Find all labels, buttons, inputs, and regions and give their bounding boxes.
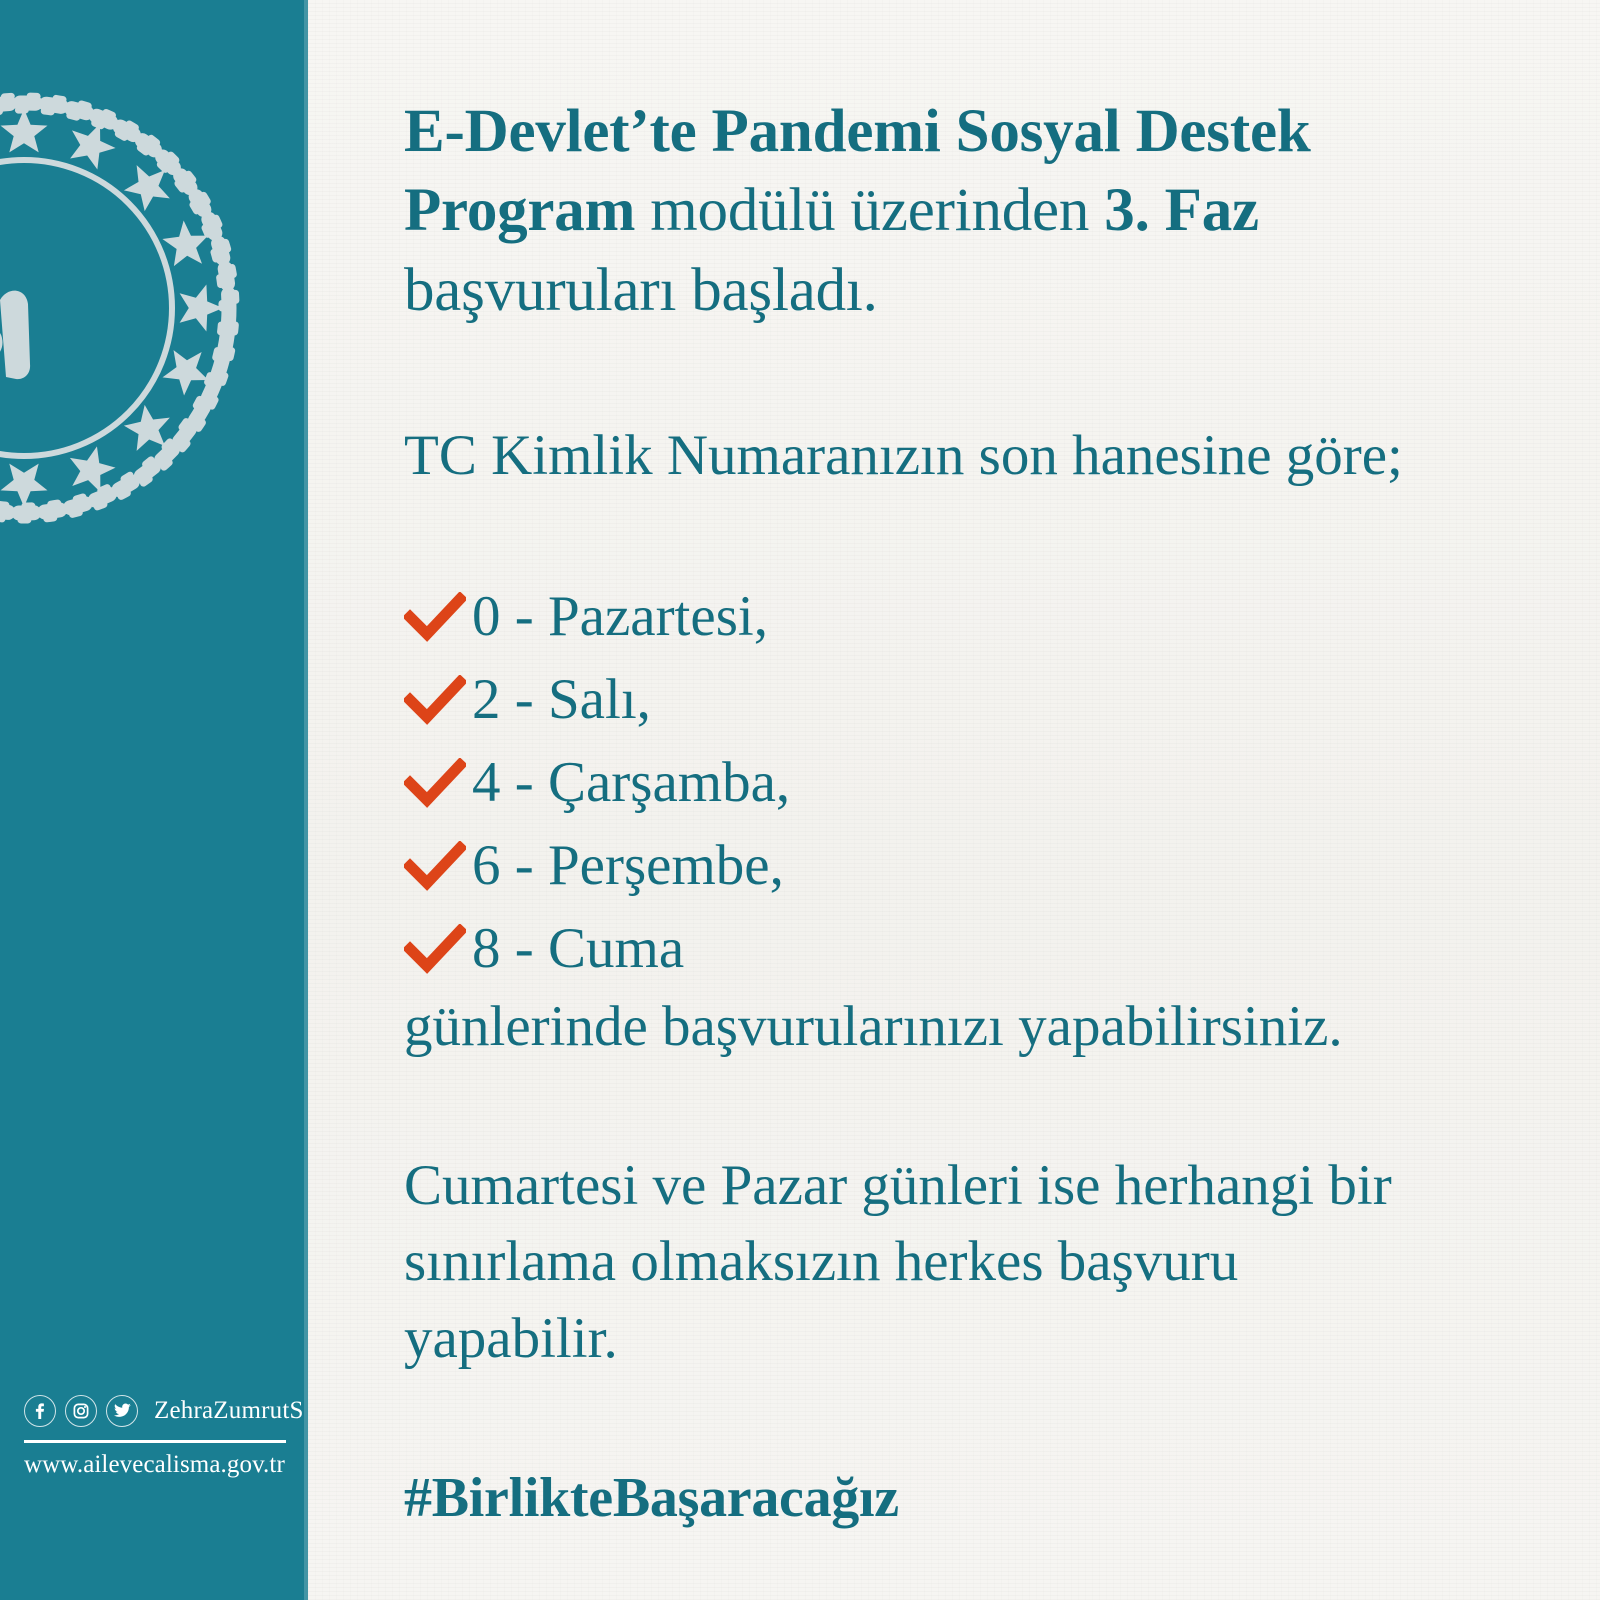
social-links-row: ZehraZumrutS bbox=[24, 1394, 292, 1428]
main-content: E-Devlet’te Pandemi Sosyal Destek Progra… bbox=[404, 0, 1524, 1600]
headline-part-3: 3. Faz bbox=[1104, 177, 1259, 244]
sidebar-footer: ZehraZumrutS www.ailevecalisma.gov.tr bbox=[24, 1394, 292, 1478]
headline-part-2: modülü üzerinden bbox=[635, 177, 1104, 244]
headline-part-4: başvuruları başladı. bbox=[404, 257, 878, 324]
check-icon bbox=[404, 592, 466, 642]
closing-line: günlerinde başvurularınızı yapabilirsini… bbox=[404, 990, 1504, 1064]
check-icon bbox=[404, 841, 466, 891]
day-label: 6 - Perşembe, bbox=[472, 837, 784, 894]
day-label: 4 - Çarşamba, bbox=[472, 754, 790, 811]
weekend-note: Cumartesi ve Pazar günleri ise herhangi … bbox=[404, 1148, 1464, 1377]
footer-divider bbox=[24, 1440, 286, 1443]
day-label: 2 - Salı, bbox=[472, 671, 651, 728]
list-item: 4 - Çarşamba, bbox=[404, 741, 1304, 824]
check-icon bbox=[404, 924, 466, 974]
website-url[interactable]: www.ailevecalisma.gov.tr bbox=[24, 1452, 292, 1478]
instagram-icon[interactable] bbox=[65, 1395, 97, 1427]
sidebar: ZehraZumrutS www.ailevecalisma.gov.tr bbox=[0, 0, 308, 1600]
social-handle: ZehraZumrutS bbox=[154, 1398, 304, 1423]
announcement-poster: ZehraZumrutS www.ailevecalisma.gov.tr E-… bbox=[0, 0, 1600, 1600]
turkish-ministry-family-labour-emblem-icon bbox=[0, 88, 244, 528]
list-item: 8 - Cuma bbox=[404, 907, 1304, 990]
campaign-hashtag: #BirlikteBaşaracağız bbox=[404, 1470, 899, 1526]
day-schedule-list: 0 - Pazartesi, 2 - Salı, 4 - Çarşamba, bbox=[404, 575, 1304, 990]
sidebar-edge-highlight bbox=[304, 0, 308, 1600]
day-label: 0 - Pazartesi, bbox=[472, 588, 768, 645]
day-label: 8 - Cuma bbox=[472, 920, 684, 977]
list-item: 6 - Perşembe, bbox=[404, 824, 1304, 907]
page-title: E-Devlet’te Pandemi Sosyal Destek Progra… bbox=[404, 92, 1414, 330]
facebook-icon[interactable] bbox=[24, 1395, 56, 1427]
list-item: 0 - Pazartesi, bbox=[404, 575, 1304, 658]
twitter-icon[interactable] bbox=[106, 1395, 138, 1427]
lead-text: TC Kimlik Numaranızın son hanesine göre; bbox=[404, 418, 1449, 494]
check-icon bbox=[404, 675, 466, 725]
list-item: 2 - Salı, bbox=[404, 658, 1304, 741]
check-icon bbox=[404, 758, 466, 808]
